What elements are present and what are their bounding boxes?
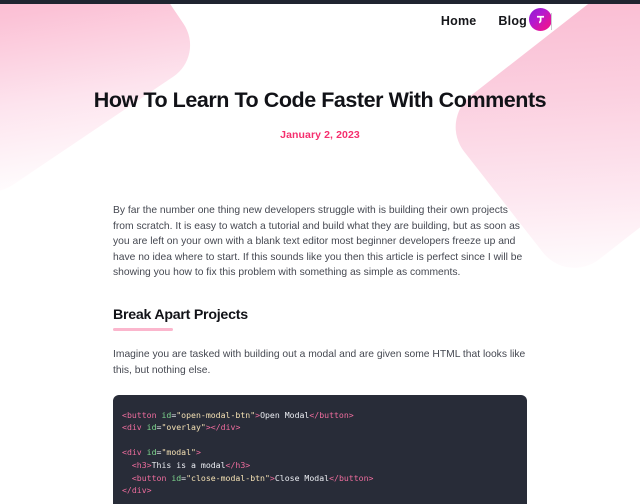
code-token: > xyxy=(147,485,152,495)
code-token: id xyxy=(161,410,171,420)
section-heading-group: Break Apart Projects xyxy=(113,307,527,332)
code-line: <button id="close-modal-btn">Close Modal… xyxy=(122,472,527,485)
site-navigation: Home Blog xyxy=(0,4,640,38)
section-heading-underline xyxy=(113,328,173,332)
code-token: </ xyxy=(309,410,319,420)
page-title: How To Learn To Code Faster With Comment… xyxy=(0,88,640,113)
code-token: </ xyxy=(329,473,339,483)
code-token: div xyxy=(127,422,142,432)
code-token: h3 xyxy=(137,460,147,470)
code-token: button xyxy=(127,410,157,420)
code-token: This is a modal xyxy=(152,460,226,470)
code-token: < xyxy=(122,460,137,470)
code-token: button xyxy=(319,410,349,420)
nav-link-home[interactable]: Home xyxy=(441,14,477,28)
code-block[interactable]: <button id="open-modal-btn">Open Modal</… xyxy=(113,395,527,504)
code-token: Open Modal xyxy=(260,410,309,420)
code-token: div xyxy=(132,485,147,495)
paragraph-before-code: Imagine you are tasked with building out… xyxy=(113,347,527,378)
section-heading: Break Apart Projects xyxy=(113,307,527,323)
code-token: id xyxy=(171,473,181,483)
code-token: button xyxy=(137,473,167,483)
code-line: <h3>This is a modal</h3> xyxy=(122,459,527,472)
code-token: id xyxy=(147,422,157,432)
code-token: > xyxy=(235,422,240,432)
page-root: Home Blog How To Learn To Code Faster Wi… xyxy=(0,0,640,504)
code-line: <div id="overlay"></div> xyxy=(122,421,527,434)
code-token: button xyxy=(339,473,369,483)
code-token: </ xyxy=(122,485,132,495)
code-line: <button id="open-modal-btn">Open Modal</… xyxy=(122,409,527,422)
code-line: <div id="modal"> xyxy=(122,446,527,459)
intro-paragraph: By far the number one thing new develope… xyxy=(113,203,527,281)
code-token: "overlay" xyxy=(161,422,205,432)
code-token: </ xyxy=(211,422,221,432)
code-token: > xyxy=(369,473,374,483)
article-date: January 2, 2023 xyxy=(0,129,640,141)
article: How To Learn To Code Faster With Comment… xyxy=(0,0,640,504)
code-token: div xyxy=(127,447,142,457)
code-token: div xyxy=(221,422,236,432)
code-token: "modal" xyxy=(161,447,196,457)
code-token: > xyxy=(245,460,250,470)
code-token: id xyxy=(147,447,157,457)
article-body: By far the number one thing new develope… xyxy=(0,203,640,504)
code-token: "close-modal-btn" xyxy=(186,473,270,483)
code-line: </div> xyxy=(122,484,527,497)
nav-link-blog[interactable]: Blog xyxy=(498,14,527,28)
code-token: > xyxy=(349,410,354,420)
browser-chrome-bar xyxy=(0,0,640,4)
code-token: Close Modal xyxy=(275,473,329,483)
code-token: </ xyxy=(226,460,236,470)
nav-divider xyxy=(551,13,552,30)
code-token: > xyxy=(196,447,201,457)
code-token: "open-modal-btn" xyxy=(176,410,255,420)
code-token: h3 xyxy=(235,460,245,470)
code-token: < xyxy=(122,473,137,483)
code-line xyxy=(122,434,527,447)
